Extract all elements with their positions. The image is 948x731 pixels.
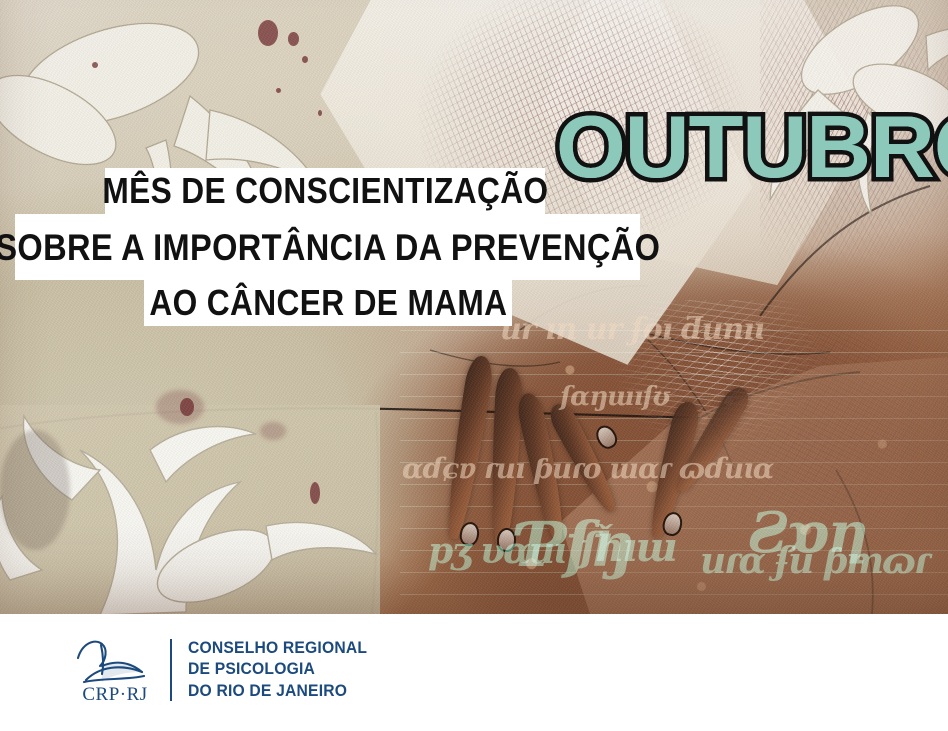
crprj-logo: CRP·RJ CONSELHO REGIONAL DE PSICOLOGIA D…	[72, 636, 377, 704]
logo-divider	[170, 639, 172, 701]
crprj-logo-mark-icon: CRP·RJ	[72, 636, 158, 704]
headline-line-2: SOBRE A IMPORTÂNCIA DA PREVENÇÃO	[0, 229, 660, 266]
poster-canvas: Ƥſŋ ſȟıɯ pʒ ʋɑuɩ Ƨɒƞ uɾɑ ʄu ƥmɷɾ ur ın u…	[0, 0, 948, 731]
crprj-acronym: CRP·RJ	[82, 684, 147, 704]
crprj-logo-name: CONSELHO REGIONAL DE PSICOLOGIA DO RIO D…	[188, 638, 367, 701]
logo-name-line-1: CONSELHO REGIONAL	[188, 638, 367, 659]
footer-bar: CRP·RJ CONSELHO REGIONAL DE PSICOLOGIA D…	[0, 614, 948, 731]
headline-line-3: AO CÂNCER DE MAMA	[149, 285, 507, 321]
headline-line-1: MÊS DE CONSCIENTIZAÇÃO	[102, 173, 548, 209]
headline-band-1: MÊS DE CONSCIENTIZAÇÃO	[105, 168, 545, 214]
headline-band-3: AO CÂNCER DE MAMA	[144, 280, 512, 326]
logo-name-line-3: DO RIO DE JANEIRO	[188, 681, 367, 702]
headline-band-2: SOBRE A IMPORTÂNCIA DA PREVENÇÃO	[15, 214, 640, 280]
logo-name-line-2: DE PSICOLOGIA	[188, 659, 367, 680]
month-banner: OUTUBRO	[556, 103, 948, 191]
